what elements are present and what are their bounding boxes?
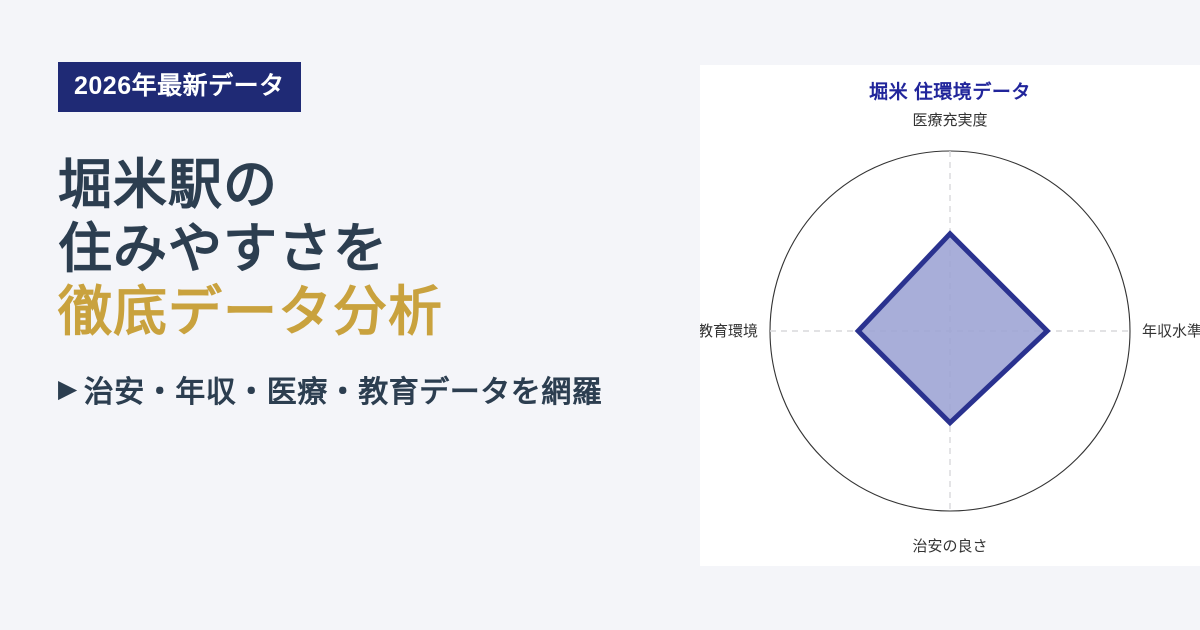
axis-label-bottom: 治安の良さ: [912, 538, 987, 555]
sub-headline-label: 治安・年収・医療・教育データを網羅: [84, 367, 603, 411]
axis-label-left: 教育環境: [700, 322, 758, 340]
radar-data-polygon: [858, 234, 1047, 423]
headline-line-2: 住みやすさを: [58, 218, 700, 282]
play-arrow-icon: ▶: [58, 377, 78, 402]
headline-line-3-accent: 徹底データ分析: [58, 281, 700, 345]
headline-line-1: 堀米駅の: [58, 154, 700, 218]
radar-chart-svg: 医療充実度 年収水準 治安の良さ 教育環境: [700, 65, 1200, 566]
axis-label-right: 年収水準: [1142, 323, 1200, 340]
axis-label-top: 医療充実度: [912, 112, 987, 129]
sub-headline: ▶ 治安・年収・医療・教育データを網羅: [58, 367, 700, 411]
left-content-panel: 2026年最新データ 堀米駅の 住みやすさを 徹底データ分析 ▶ 治安・年収・医…: [0, 0, 700, 630]
radar-chart-card: 堀米 住環境データ 医療充実度 年収水準 治安の良さ 教育環境: [700, 65, 1200, 566]
latest-data-badge: 2026年最新データ: [58, 62, 301, 112]
poster-canvas: 2026年最新データ 堀米駅の 住みやすさを 徹底データ分析 ▶ 治安・年収・医…: [0, 0, 1200, 630]
page-title: 堀米駅の 住みやすさを 徹底データ分析: [58, 154, 700, 345]
radar-chart: 医療充実度 年収水準 治安の良さ 教育環境: [700, 65, 1200, 566]
